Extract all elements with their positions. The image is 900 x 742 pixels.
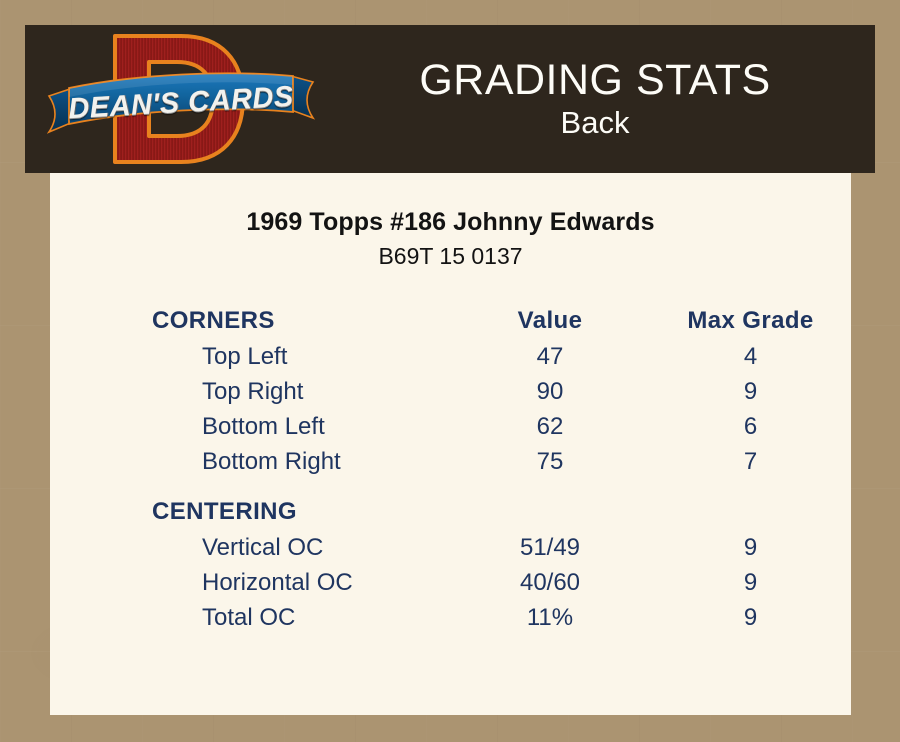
section-header-row: CORNERSValueMax Grade [50, 307, 851, 343]
column-header-value [450, 498, 650, 534]
row-label: Horizontal OC [50, 569, 450, 604]
header-title-block: GRADING STATS Back [315, 25, 875, 173]
column-header-max-grade: Max Grade [650, 307, 851, 343]
table-row: Top Right909 [50, 378, 851, 413]
table-spacer-row [50, 483, 851, 498]
deans-cards-logo[interactable]: DEAN'S CARDS [47, 28, 317, 170]
card-title: 1969 Topps #186 Johnny Edwards [50, 208, 851, 237]
row-value: 47 [450, 343, 650, 378]
row-max-grade: 9 [650, 378, 851, 413]
row-value: 75 [450, 448, 650, 483]
table-row: Horizontal OC40/609 [50, 569, 851, 604]
page-subtitle: Back [561, 107, 630, 140]
content-panel: 1969 Topps #186 Johnny Edwards B69T 15 0… [50, 173, 851, 715]
row-label: Bottom Left [50, 413, 450, 448]
column-header-value: Value [450, 307, 650, 343]
row-value: 11% [450, 604, 650, 639]
card-code: B69T 15 0137 [50, 243, 851, 271]
row-max-grade: 9 [650, 534, 851, 569]
row-label: Bottom Right [50, 448, 450, 483]
grading-stats-table: CORNERSValueMax GradeTop Left474Top Righ… [50, 307, 851, 639]
card-heading: 1969 Topps #186 Johnny Edwards B69T 15 0… [50, 208, 851, 270]
row-value: 62 [450, 413, 650, 448]
section-title: CENTERING [50, 498, 450, 534]
logo-ribbon-banner: DEAN'S CARDS [47, 70, 315, 136]
row-max-grade: 4 [650, 343, 851, 378]
row-label: Top Right [50, 378, 450, 413]
grading-stats-body: CORNERSValueMax GradeTop Left474Top Righ… [50, 307, 851, 639]
row-label: Vertical OC [50, 534, 450, 569]
row-label: Top Left [50, 343, 450, 378]
table-row: Bottom Left626 [50, 413, 851, 448]
table-row: Total OC11%9 [50, 604, 851, 639]
row-max-grade: 6 [650, 413, 851, 448]
column-header-max-grade [650, 498, 851, 534]
section-title: CORNERS [50, 307, 450, 343]
row-value: 90 [450, 378, 650, 413]
row-value: 51/49 [450, 534, 650, 569]
grading-stats-page: DEAN'S CARDS GRADING STATS Back 1969 Top… [0, 0, 900, 742]
section-header-row: CENTERING [50, 498, 851, 534]
page-title: GRADING STATS [419, 58, 770, 103]
table-row: Bottom Right757 [50, 448, 851, 483]
table-row: Vertical OC51/499 [50, 534, 851, 569]
row-max-grade: 9 [650, 569, 851, 604]
row-label: Total OC [50, 604, 450, 639]
table-row: Top Left474 [50, 343, 851, 378]
header-bar: DEAN'S CARDS GRADING STATS Back [25, 25, 875, 173]
row-max-grade: 7 [650, 448, 851, 483]
row-max-grade: 9 [650, 604, 851, 639]
grading-stats-table-wrap: CORNERSValueMax GradeTop Left474Top Righ… [50, 307, 851, 639]
row-value: 40/60 [450, 569, 650, 604]
